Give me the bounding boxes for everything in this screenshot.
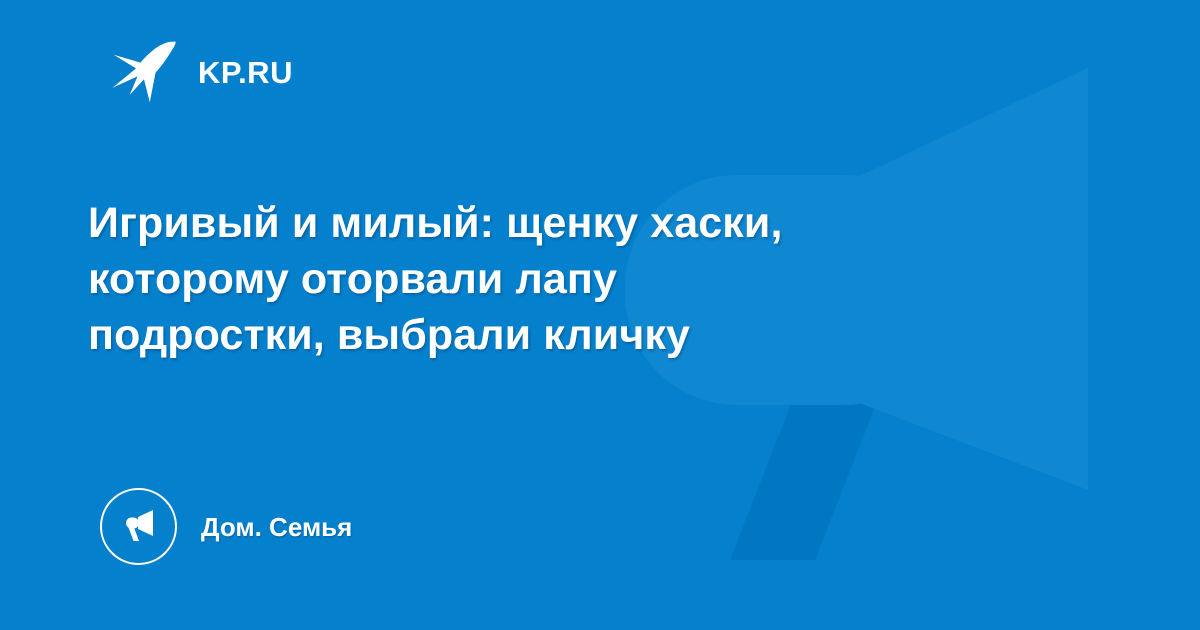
category-badge[interactable]: Дом. Семья bbox=[100, 488, 352, 565]
brand-name: KP.RU bbox=[198, 57, 293, 88]
headline-line-1: Игривый и милый: щенку хаски, bbox=[88, 195, 1018, 251]
category-label: Дом. Семья bbox=[201, 514, 352, 540]
megaphone-icon bbox=[100, 488, 177, 565]
headline-line-3: подростки, выбрали кличку bbox=[88, 307, 1018, 363]
swallow-bird-icon bbox=[108, 36, 180, 108]
headline-line-2: которому оторвали лапу bbox=[88, 251, 1018, 307]
headline: Игривый и милый: щенку хаски, которому о… bbox=[88, 195, 1018, 363]
site-logo[interactable]: KP.RU bbox=[108, 36, 293, 108]
share-card: KP.RU Игривый и милый: щенку хаски, кото… bbox=[0, 0, 1200, 630]
